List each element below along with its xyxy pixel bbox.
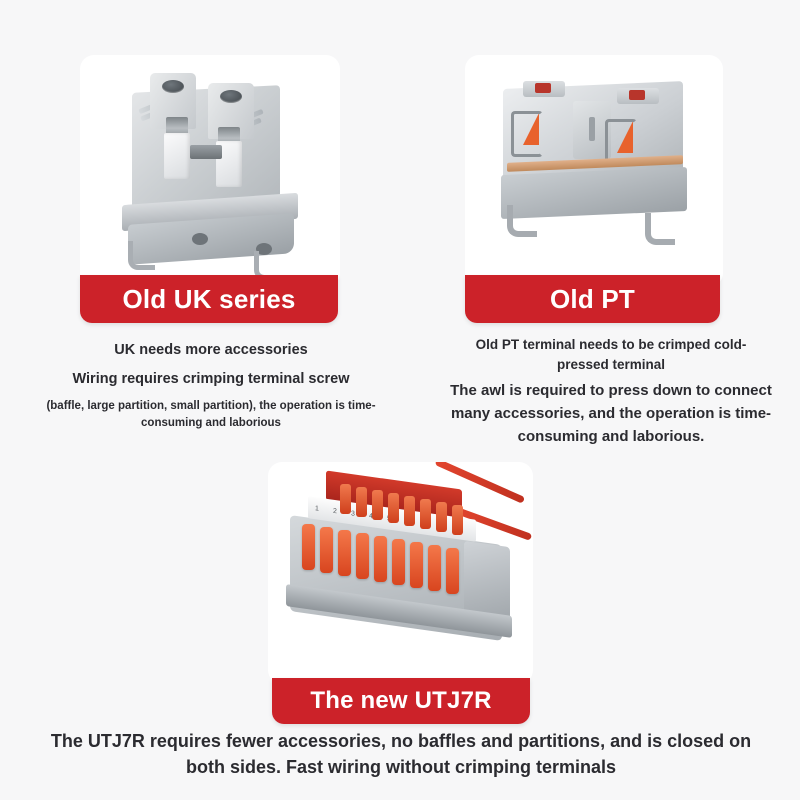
utj7r-illustration: 1 2 3 4 5 6 7 8 9 [268,462,533,684]
utj7r-upper-lever [340,484,351,514]
uk-screw-hole [162,80,184,93]
infographic-root: Old UK series UK needs more accessories … [0,0,800,800]
pt-test-port [629,90,645,100]
utj7r-lever [302,524,315,570]
uk-screw-hole [220,90,242,103]
old-uk-line-3: (baffle, large partition, small partitio… [30,398,392,433]
utj7r-lever [374,536,387,582]
utj7r-marker: 1 [308,504,326,514]
utj7r-upper-lever [388,493,399,523]
pt-din-hook [507,205,537,237]
product-photo-old-uk [80,55,340,287]
utj7r-lever [428,545,441,591]
old-uk-line-2: Wiring requires crimping terminal screw [36,369,386,390]
uk-terminal-illustration [80,55,340,287]
banner-new-utj7r-label: The new UTJ7R [310,687,491,715]
banner-new-utj7r: The new UTJ7R [272,678,530,724]
banner-old-uk: Old UK series [80,275,338,323]
old-pt-line-1: Old PT terminal needs to be crimped cold… [452,335,770,376]
utj7r-upper-lever [452,505,463,535]
new-utj7r-caption: The UTJ7R requires fewer accessories, no… [40,728,762,780]
uk-wire-slot [164,133,190,179]
utj7r-lever [392,539,405,585]
utj7r-lever [320,527,333,573]
utj7r-upper-lever [356,487,367,517]
utj7r-lever [410,542,423,588]
utj7r-lever [356,533,369,579]
old-pt-line-2: The awl is required to press down to con… [450,380,772,448]
pt-test-port [535,83,551,93]
banner-old-pt-label: Old PT [550,284,635,315]
utj7r-upper-lever [420,499,431,529]
pt-din-hook [645,213,675,245]
pt-terminal-illustration [465,55,723,287]
pt-center-slot [589,117,595,141]
banner-old-pt: Old PT [465,275,720,323]
uk-foot-hole [192,233,208,245]
utj7r-upper-lever [436,502,447,532]
utj7r-upper-lever [404,496,415,526]
banner-old-uk-label: Old UK series [122,284,295,315]
product-photo-old-pt [465,55,723,287]
utj7r-lever [446,548,459,594]
uk-metal-bridge [190,145,222,159]
product-photo-new-utj7r: 1 2 3 4 5 6 7 8 9 [268,462,533,684]
pt-spring-clip [511,111,543,157]
uk-din-clip [128,241,155,270]
utj7r-upper-lever [372,490,383,520]
utj7r-lever [338,530,351,576]
old-uk-line-1: UK needs more accessories [36,340,386,361]
